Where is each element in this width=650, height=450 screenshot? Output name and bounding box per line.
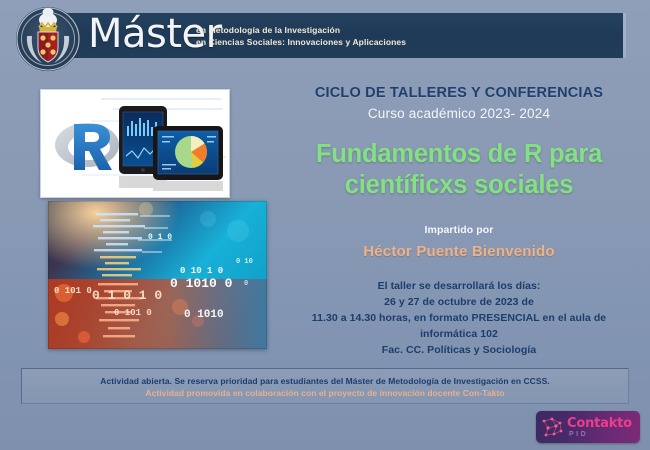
svg-text:0 1 0: 0 1 0 (148, 233, 172, 242)
contakto-logo: Contakto PID (536, 411, 640, 443)
detail-line: 11.30 a 14.30 horas, en formato PRESENCI… (278, 310, 640, 326)
presented-by-label: Impartido por (278, 223, 640, 238)
footer-banner-line-1: Actividad abierta. Se reserva prioridad … (22, 375, 628, 387)
main-content-column: CICLO DE TALLERES Y CONFERENCIAS Curso a… (278, 84, 640, 358)
page-title-line-1: Fundamentos de R para (278, 139, 640, 170)
session-details: El taller se desarrollará los días: 26 y… (278, 278, 640, 358)
svg-text:0 101 0: 0 101 0 (54, 286, 92, 296)
ucm-shield-icon (14, 6, 82, 72)
svg-text:0: 0 (244, 280, 248, 288)
svg-text:0 1010: 0 1010 (184, 309, 224, 321)
binary-code-abstract-image: 0 1 0 0 10 0 10 1 0 0 1010 0 0 0 1010 0 … (48, 201, 267, 349)
header-bar: Máster en Metodología de la Investigació… (0, 0, 650, 72)
svg-text:0 1 0 1 0: 0 1 0 1 0 (92, 288, 162, 303)
detail-line: informática 102 (278, 326, 640, 342)
r-language-tablets-image (40, 89, 230, 198)
contakto-wordmark: Contakto (567, 416, 632, 431)
detail-line: 26 y 27 de octubre de 2023 de (278, 294, 640, 310)
svg-text:0 10: 0 10 (236, 258, 253, 266)
academic-year: Curso académico 2023- 2024 (278, 104, 640, 124)
page-title: Fundamentos de R para científicxs social… (278, 139, 640, 201)
speaker-name: Héctor Puente Bienvenido (278, 242, 640, 261)
detail-line: El taller se desarrollará los días: (278, 278, 640, 294)
footer-banner: Actividad abierta. Se reserva prioridad … (21, 368, 629, 404)
contakto-pid-label: PID (569, 430, 588, 439)
svg-text:0 101 0: 0 101 0 (114, 308, 152, 318)
page-title-line-2: científicxs sociales (278, 170, 640, 201)
series-eyebrow: CICLO DE TALLERES Y CONFERENCIAS (278, 84, 640, 103)
footer-banner-line-2: Actividad promovida en colaboración con … (22, 387, 628, 399)
svg-text:0 10 1 0: 0 10 1 0 (180, 266, 223, 276)
master-subtitle-line-2: en Ciencias Sociales: Innovaciones y Apl… (196, 36, 496, 48)
poster-canvas: Máster en Metodología de la Investigació… (0, 0, 650, 450)
master-subtitle-line-1: en Metodología de la Investigación (196, 24, 496, 36)
detail-line: Fac. CC. Políticas y Sociología (278, 342, 640, 358)
master-subtitle: en Metodología de la Investigación en Ci… (196, 24, 496, 48)
network-nodes-icon (540, 415, 566, 439)
svg-text:0 1010 0: 0 1010 0 (170, 276, 233, 291)
